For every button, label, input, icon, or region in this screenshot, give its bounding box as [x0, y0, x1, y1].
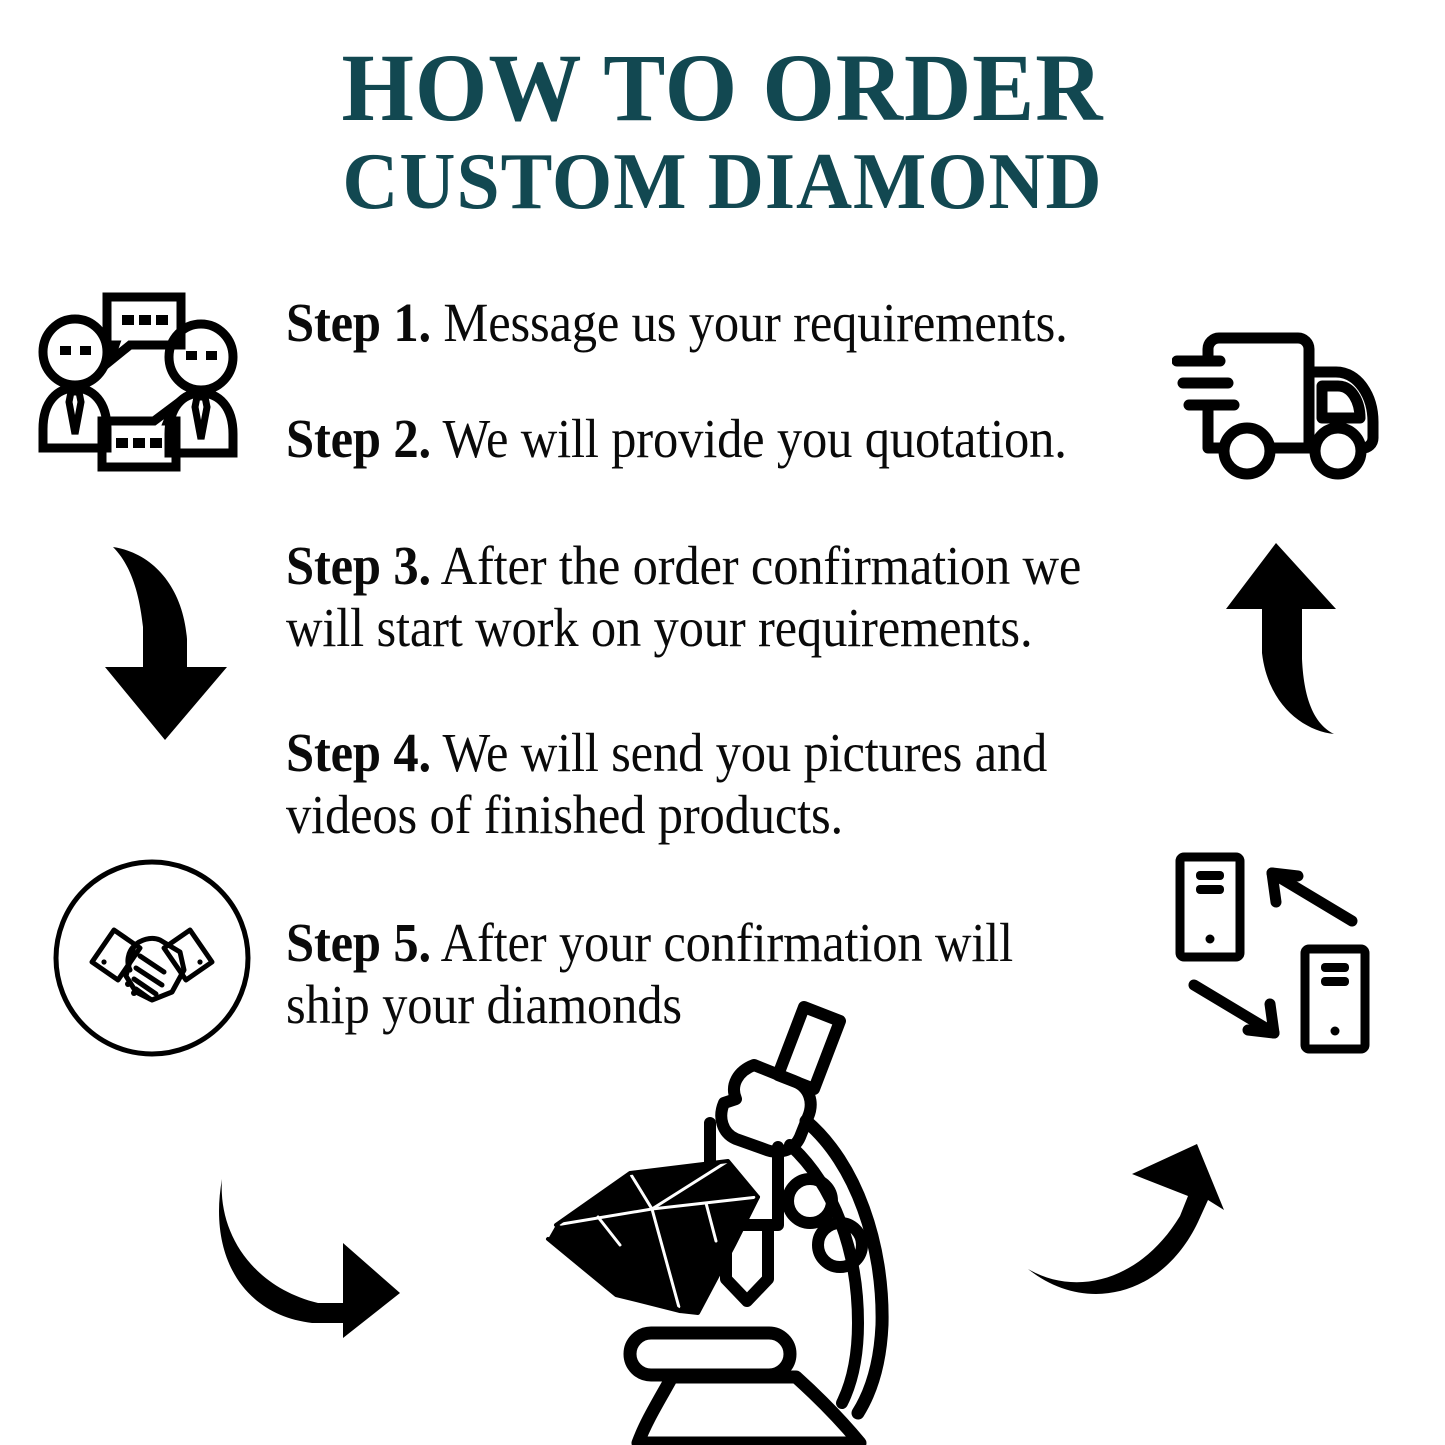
delivery-truck-icon [1172, 330, 1402, 490]
page-title: HOW TO ORDER CUSTOM DIAMOND [0, 40, 1445, 224]
curved-arrow-up-icon [1212, 535, 1358, 747]
step-1-text: Step 1. Message us your requirements. [286, 292, 1105, 354]
title-line-1: HOW TO ORDER [22, 40, 1424, 136]
step-2-label: Step 2. [286, 408, 431, 469]
step-3-label: Step 3. [286, 535, 431, 596]
step-3-text: Step 3. After the order confirmation we … [286, 535, 1105, 659]
step-4-text: Step 4. We will send you pictures and vi… [286, 722, 1105, 846]
step-4-label: Step 4. [286, 722, 431, 783]
step-2-text: Step 2. We will provide you quotation. [286, 408, 1105, 470]
curved-arrow-down-icon [95, 535, 241, 747]
phone-transfer-icon [1162, 845, 1402, 1070]
step-2-body: We will provide you quotation. [431, 408, 1067, 469]
microscope-diamond-icon [520, 995, 940, 1445]
curved-arrow-upright-icon [1022, 1138, 1247, 1318]
title-line-2: CUSTOM DIAMOND [22, 140, 1424, 224]
step-1-body: Message us your requirements. [431, 292, 1068, 353]
people-chat-icon [34, 284, 249, 474]
curved-arrow-right-icon [200, 1175, 420, 1340]
infographic-canvas: HOW TO ORDER CUSTOM DIAMOND Step 1. Mess… [0, 0, 1445, 1445]
step-1-label: Step 1. [286, 292, 431, 353]
step-5-label: Step 5. [286, 912, 431, 973]
handshake-circle-icon [52, 858, 252, 1058]
